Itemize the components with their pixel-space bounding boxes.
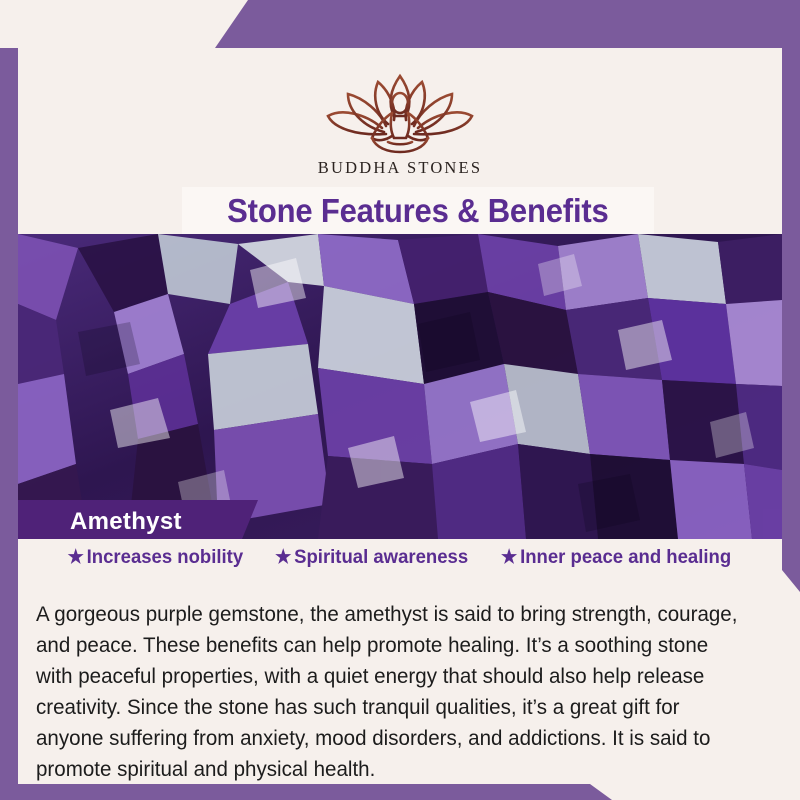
amethyst-crystal-cluster-photo [18,234,782,539]
benefit-label: Inner peace and healing [520,546,731,569]
lotus-meditation-figure-icon [316,70,484,156]
hero-image: Amethyst [18,234,782,539]
star-icon: ★ [68,548,84,567]
benefit-item: ★ Inner peace and healing [501,546,731,569]
star-icon: ★ [275,548,291,567]
star-icon: ★ [501,548,517,567]
content-card: BUDDHA STONES Stone Features & Benefits [18,48,782,784]
benefit-label: Spiritual awareness [294,546,468,569]
decorative-band-left [0,48,18,788]
decorative-band-top [215,0,800,48]
brand-name: BUDDHA STONES [318,158,482,178]
benefit-label: Increases nobility [87,546,243,569]
benefit-item: ★ Spiritual awareness [275,546,468,569]
infographic-page: BUDDHA STONES Stone Features & Benefits [0,0,800,800]
stone-name-label: Amethyst [18,500,258,539]
brand-logo: BUDDHA STONES [18,70,782,178]
stone-name-text: Amethyst [70,508,182,536]
stone-description: A gorgeous purple gemstone, the amethyst… [36,599,742,785]
title-band: Stone Features & Benefits [182,187,654,234]
benefits-list: ★ Increases nobility ★ Spiritual awarene… [18,546,782,569]
page-title: Stone Features & Benefits [227,192,608,230]
benefit-item: ★ Increases nobility [68,546,244,569]
decorative-band-right [782,0,800,592]
